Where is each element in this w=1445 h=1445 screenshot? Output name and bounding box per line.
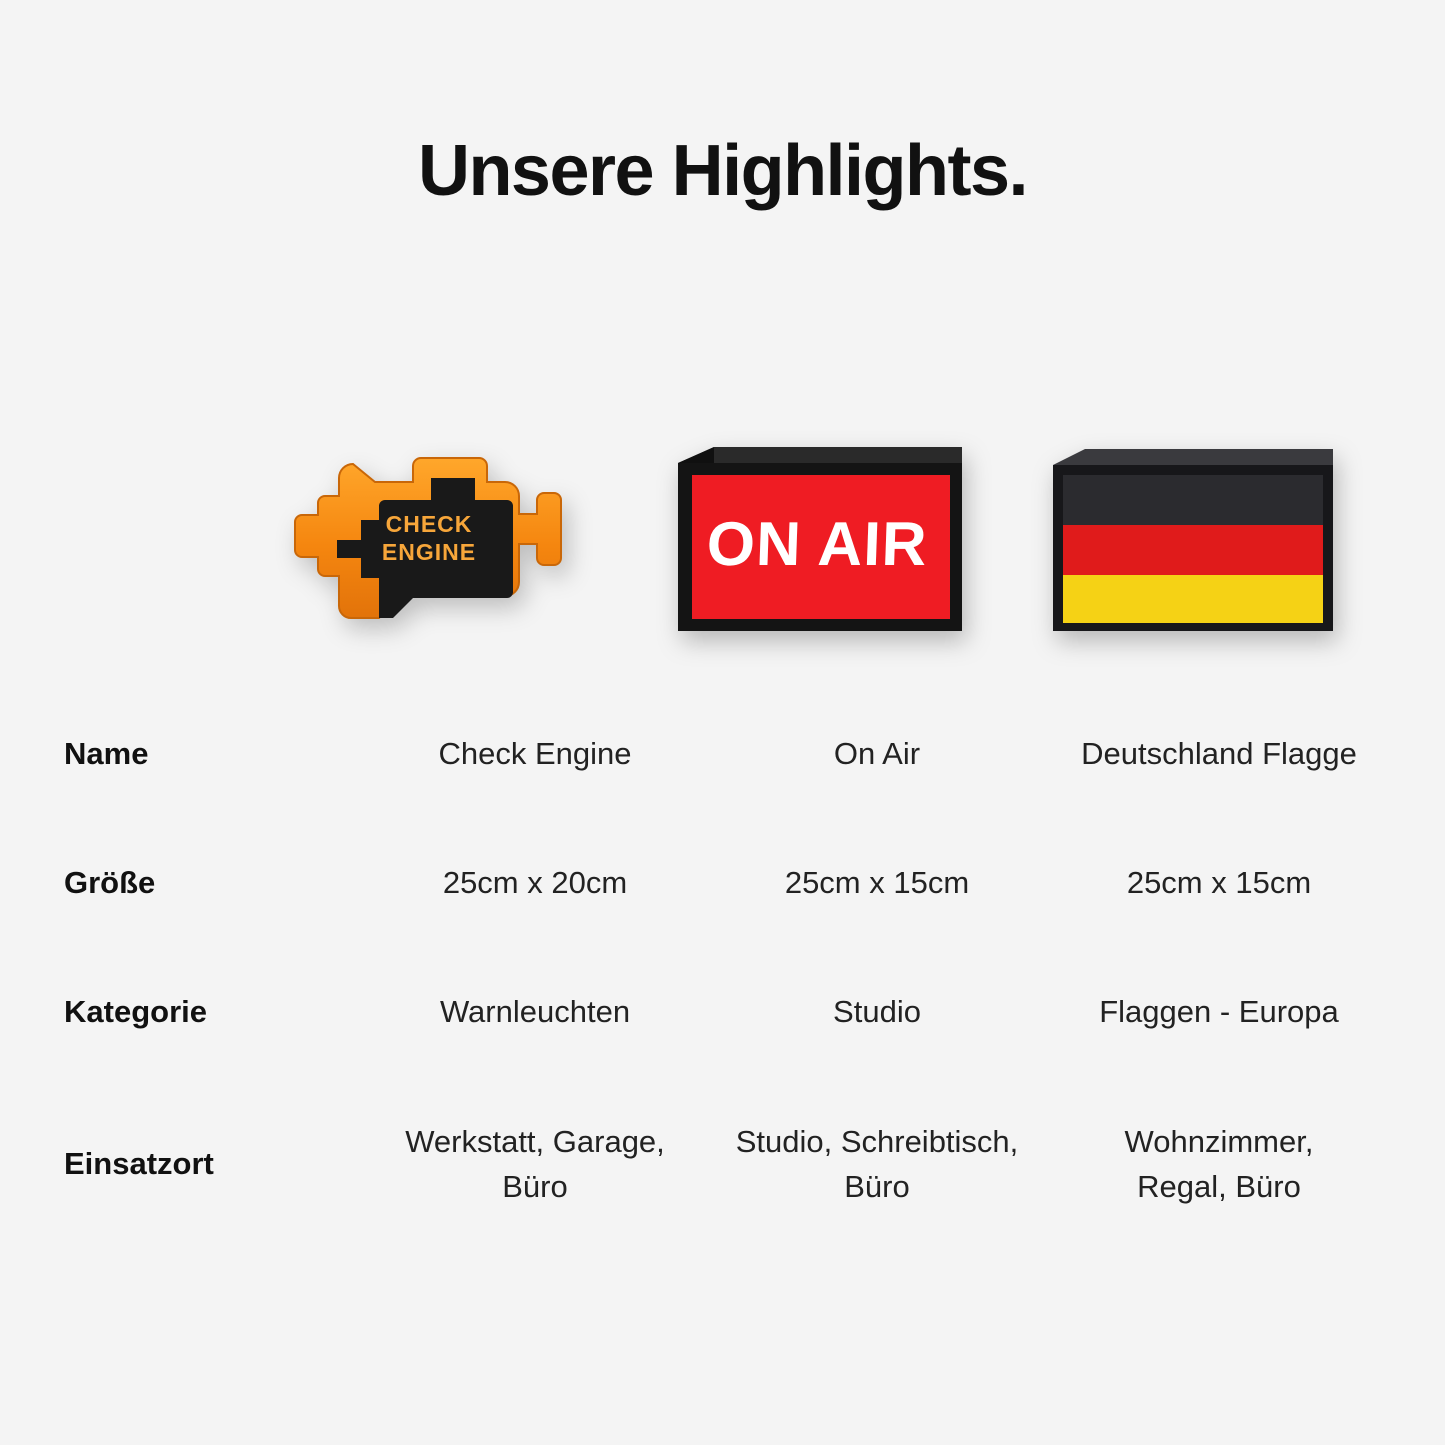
cell-groesse-check-engine: 25cm x 20cm [364, 819, 706, 948]
cell-groesse-deutschland-flagge: 25cm x 15cm [1048, 819, 1390, 948]
svg-text:ON AIR: ON AIR [706, 510, 929, 579]
row-label-kategorie: Kategorie [60, 948, 364, 1077]
cell-kategorie-deutschland-flagge: Flaggen - Europa [1048, 948, 1390, 1077]
check-engine-lamp-icon: CHECK ENGINE [287, 420, 607, 650]
table-row: Kategorie Warnleuchten Studio Flaggen - … [60, 948, 1390, 1077]
on-air-lightbox: ON AIR [670, 435, 970, 635]
cell-kategorie-check-engine: Warnleuchten [364, 948, 706, 1077]
cell-einsatzort-on-air: Studio, Schreibtisch, Büro [706, 1077, 1048, 1252]
cell-name-check-engine: Check Engine [364, 690, 706, 819]
row-label-groesse: Größe [60, 819, 364, 948]
cell-name-on-air: On Air [706, 690, 1048, 819]
svg-text:CHECK: CHECK [385, 511, 472, 537]
row-label-name: Name [60, 690, 364, 819]
page-title: Unsere Highlights. [0, 130, 1445, 212]
cell-einsatzort-deutschland-flagge: Wohnzimmer, Regal, Büro [1048, 1077, 1390, 1252]
cell-kategorie-on-air: Studio [706, 948, 1048, 1077]
svg-text:ENGINE: ENGINE [382, 539, 476, 565]
table-row: Einsatzort Werkstatt, Garage, Büro Studi… [60, 1077, 1390, 1252]
table-row: Name Check Engine On Air Deutschland Fla… [60, 690, 1390, 819]
product-image-check-engine: CHECK ENGINE [260, 400, 633, 670]
specs-table: Name Check Engine On Air Deutschland Fla… [60, 690, 1390, 1252]
cell-name-deutschland-flagge: Deutschland Flagge [1048, 690, 1390, 819]
product-image-row: CHECK ENGINE ON AIR [260, 400, 1380, 670]
germany-flag-lightbox [1043, 435, 1343, 635]
highlights-page: Unsere Highlights. [0, 0, 1445, 1445]
table-row: Größe 25cm x 20cm 25cm x 15cm 25cm x 15c… [60, 819, 1390, 948]
row-label-einsatzort: Einsatzort [60, 1077, 364, 1252]
cell-groesse-on-air: 25cm x 15cm [706, 819, 1048, 948]
product-image-on-air: ON AIR [633, 400, 1006, 670]
cell-einsatzort-check-engine: Werkstatt, Garage, Büro [364, 1077, 706, 1252]
product-image-deutschland-flagge [1007, 400, 1380, 670]
